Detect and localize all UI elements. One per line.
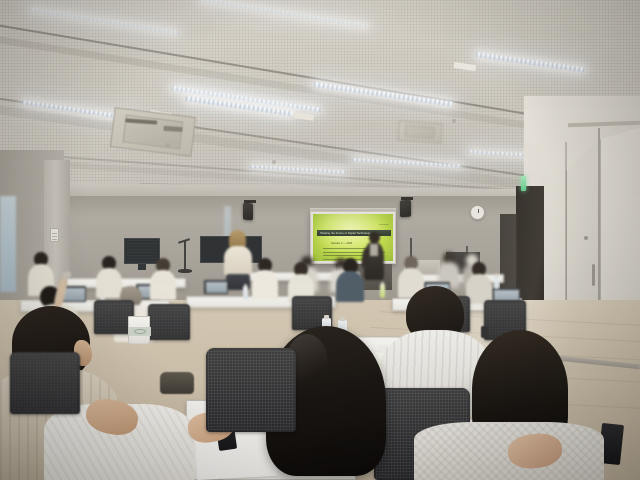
- ceiling-cassette-air-conditioner: [397, 120, 442, 143]
- chair[interactable]: [206, 348, 296, 432]
- wall-speaker-left: [243, 203, 253, 221]
- attendee: [336, 258, 364, 302]
- wall-clock: [470, 205, 485, 220]
- attendee: [252, 258, 278, 300]
- sprinkler-head: [166, 143, 170, 147]
- water-bottle[interactable]: [243, 286, 248, 300]
- partition-door-handle[interactable]: [592, 264, 595, 286]
- presenter: [364, 232, 384, 280]
- standing-staff-member: [224, 230, 252, 288]
- floor-bag: [160, 372, 194, 394]
- display-stand: [138, 264, 146, 270]
- back-wall-upper-band: [40, 196, 530, 218]
- blouse: [252, 438, 402, 480]
- sprinkler-head: [272, 160, 276, 164]
- seminar-room-photo: Shaping the Future of Digital Technology…: [0, 0, 640, 480]
- slide-logo-mark: [379, 224, 389, 225]
- microphone-base: [178, 269, 192, 273]
- smartphone[interactable]: [61, 271, 71, 279]
- cup-logo: [134, 329, 146, 334]
- presenter-shirt: [370, 244, 378, 256]
- microphone-stand: [184, 240, 186, 270]
- chair[interactable]: [148, 304, 190, 340]
- water-bottle[interactable]: [494, 276, 499, 289]
- wall-speaker-right: [400, 200, 411, 218]
- window-light-strip: [0, 196, 16, 292]
- wall-control-panel[interactable]: [50, 228, 59, 242]
- partition-door-lock[interactable]: [584, 236, 588, 240]
- emergency-exit-indicator: [521, 176, 526, 191]
- paper-coffee-cup[interactable]: [128, 316, 150, 344]
- slide-subtitle-text: Session 2 — 2024: [331, 242, 352, 245]
- chair[interactable]: [10, 352, 80, 414]
- sprinkler-head: [452, 119, 456, 123]
- laptop[interactable]: [204, 280, 228, 294]
